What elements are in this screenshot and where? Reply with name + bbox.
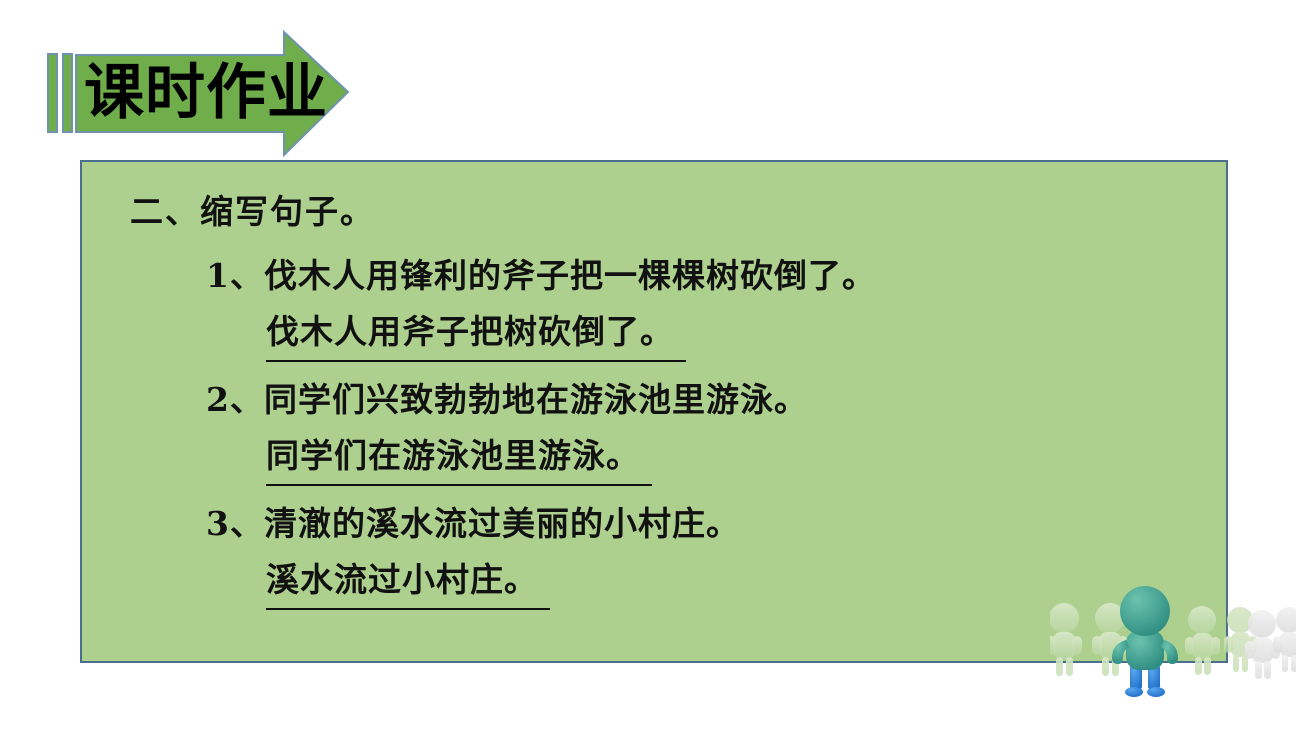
page-title: 课时作业 [84, 54, 324, 132]
title-banner: 课时作业 [46, 28, 366, 160]
exercise-item-1: 1、伐木人用锋利的斧子把一棵棵树砍倒了。 伐木人用斧子把树砍倒了。 [130, 248, 1226, 366]
slide-canvas: 课时作业 二、缩写句子。 1、伐木人用锋利的斧子把一棵棵树砍倒了。 伐木人用斧子… [0, 0, 1296, 729]
answer-row-2: 同学们在游泳池里游泳。 [206, 428, 1226, 490]
question-number-1: 1、 [206, 256, 264, 295]
question-text-3: 3、清澈的溪水流过美丽的小村庄。 [206, 496, 1226, 552]
content-panel: 二、缩写句子。 1、伐木人用锋利的斧子把一棵棵树砍倒了。 伐木人用斧子把树砍倒了… [80, 160, 1228, 663]
ghost-figure-5 [1245, 610, 1280, 679]
exercise-item-3: 3、清澈的溪水流过美丽的小村庄。 溪水流过小村庄。 [130, 496, 1226, 614]
section-heading: 二、缩写句子。 [130, 190, 1226, 234]
figurine-leg-right [1148, 663, 1160, 691]
question-text-1: 1、伐木人用锋利的斧子把一棵棵树砍倒了。 [206, 248, 1226, 304]
answer-row-3: 溪水流过小村庄。 [206, 552, 1226, 614]
question-number-2: 2、 [206, 380, 264, 419]
accent-bar-2 [63, 54, 72, 132]
figurine-foot-right [1147, 687, 1165, 697]
answer-text-2: 同学们在游泳池里游泳。 [266, 428, 652, 486]
accent-bar-1 [48, 54, 57, 132]
question-body-2: 同学们兴致勃勃地在游泳池里游泳。 [264, 380, 808, 419]
content-body: 二、缩写句子。 1、伐木人用锋利的斧子把一棵棵树砍倒了。 伐木人用斧子把树砍倒了… [82, 162, 1226, 661]
answer-text-1: 伐木人用斧子把树砍倒了。 [266, 304, 686, 362]
question-body-3: 清澈的溪水流过美丽的小村庄。 [264, 504, 740, 543]
figurine-foot-left [1125, 687, 1143, 697]
question-body-1: 伐木人用锋利的斧子把一棵棵树砍倒了。 [264, 256, 876, 295]
ghost-figure-6 [1273, 607, 1296, 672]
answer-row-1: 伐木人用斧子把树砍倒了。 [206, 304, 1226, 366]
question-text-2: 2、同学们兴致勃勃地在游泳池里游泳。 [206, 372, 1226, 428]
question-number-3: 3、 [206, 504, 264, 543]
figurine-leg-left [1130, 663, 1142, 691]
answer-text-3: 溪水流过小村庄。 [266, 552, 550, 610]
ghost-figure-4 [1224, 607, 1257, 672]
exercise-item-2: 2、同学们兴致勃勃地在游泳池里游泳。 同学们在游泳池里游泳。 [130, 372, 1226, 490]
